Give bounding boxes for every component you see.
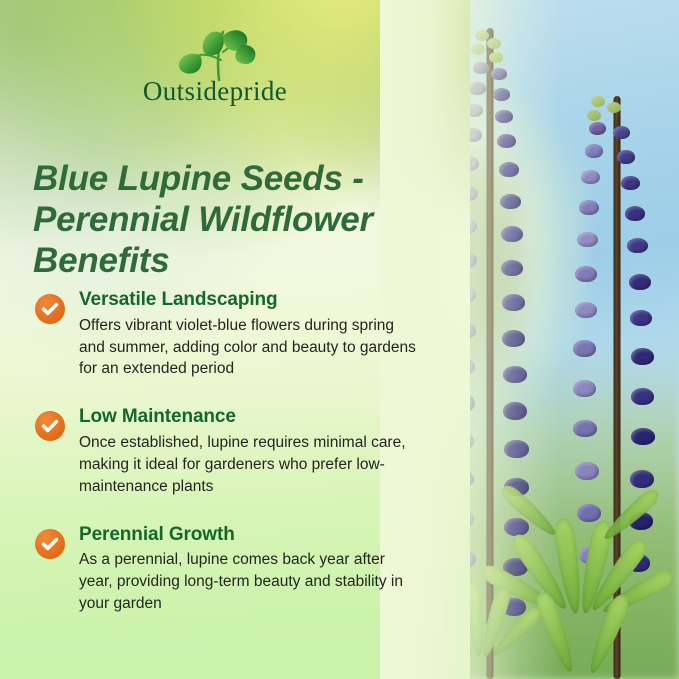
benefit-item: Perennial Growth As a perennial, lupine …: [33, 523, 433, 615]
title-line-3: Benefits: [33, 241, 428, 282]
benefit-item: Versatile Landscaping Offers vibrant vio…: [33, 288, 433, 380]
benefit-description: Once established, lupine requires minima…: [79, 432, 419, 498]
brand-name: Outsidepride: [0, 78, 430, 105]
benefit-heading: Low Maintenance: [79, 405, 433, 429]
benefit-heading: Versatile Landscaping: [79, 288, 433, 312]
benefit-description: As a perennial, lupine comes back year a…: [79, 549, 419, 615]
plant-sprout-icon: [167, 22, 263, 84]
check-circle-icon: [35, 294, 65, 324]
benefit-heading: Perennial Growth: [79, 523, 433, 547]
product-infographic: Outsidepride Blue Lupine Seeds - Perenni…: [0, 0, 679, 679]
check-circle-icon: [35, 529, 65, 559]
brand-logo[interactable]: Outsidepride: [0, 22, 430, 105]
page-title: Blue Lupine Seeds - Perennial Wildflower…: [33, 159, 428, 282]
title-line-1: Blue Lupine Seeds -: [33, 159, 428, 200]
check-circle-icon: [35, 411, 65, 441]
benefit-description: Offers vibrant violet-blue flowers durin…: [79, 315, 419, 381]
benefit-item: Low Maintenance Once established, lupine…: [33, 405, 433, 497]
title-line-2: Perennial Wildflower: [33, 200, 428, 241]
benefits-list: Versatile Landscaping Offers vibrant vio…: [33, 288, 433, 640]
